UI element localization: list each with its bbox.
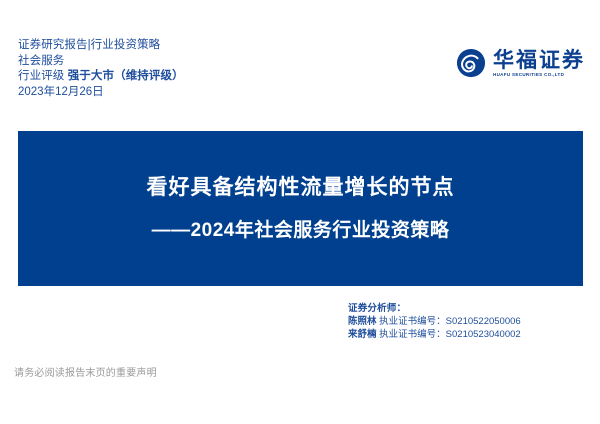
analyst-row: 陈照林 执业证书编号：S0210522050006: [348, 316, 521, 329]
logo-name-cn: 华福证券: [493, 49, 585, 71]
analyst-name: 陈照林: [348, 316, 377, 327]
report-title: 看好具备结构性流量增长的节点: [147, 175, 455, 200]
title-banner: 看好具备结构性流量增长的节点 ——2024年社会服务行业投资策略: [18, 131, 583, 286]
header-meta-block: 证券研究报告|行业投资策略 社会服务 行业评级 强于大市（维持评级） 2023年…: [18, 38, 184, 100]
company-logo: 华福证券 HUAFU SECURITIES CO.,LTD: [456, 48, 585, 78]
page-header: 证券研究报告|行业投资策略 社会服务 行业评级 强于大市（维持评级） 2023年…: [0, 38, 600, 118]
analyst-row: 来舒楠 执业证书编号：S0210523040002: [348, 329, 521, 342]
analyst-block: 证券分析师： 陈照林 执业证书编号：S0210522050006 来舒楠 执业证…: [348, 302, 521, 341]
analyst-cert-label: 执业证书编号：: [379, 316, 446, 327]
rating-value: 强于大市（维持评级）: [68, 70, 184, 82]
analyst-cert-number: S0210522050006: [446, 316, 521, 327]
analyst-cert-number: S0210523040002: [446, 329, 521, 340]
report-type-line: 证券研究报告|行业投资策略: [18, 38, 184, 54]
industry-rating-line: 行业评级 强于大市（维持评级）: [18, 69, 184, 85]
logo-name-en: HUAFU SECURITIES CO.,LTD: [493, 73, 587, 77]
report-subtitle: ——2024年社会服务行业投资策略: [152, 220, 450, 243]
huafu-spiral-logo-icon: [456, 48, 486, 78]
analyst-heading: 证券分析师：: [348, 302, 521, 316]
analyst-name: 来舒楠: [348, 329, 377, 340]
report-date: 2023年12月26日: [18, 85, 184, 101]
report-cover-page: 证券研究报告|行业投资策略 社会服务 行业评级 强于大市（维持评级） 2023年…: [0, 0, 600, 424]
analyst-cert-label: 执业证书编号：: [379, 329, 446, 340]
rating-label: 行业评级: [18, 70, 64, 82]
logo-text-wrap: 华福证券 HUAFU SECURITIES CO.,LTD: [493, 49, 585, 77]
footer-disclaimer: 请务必阅读报告末页的重要声明: [14, 364, 157, 379]
industry-line: 社会服务: [18, 54, 184, 70]
